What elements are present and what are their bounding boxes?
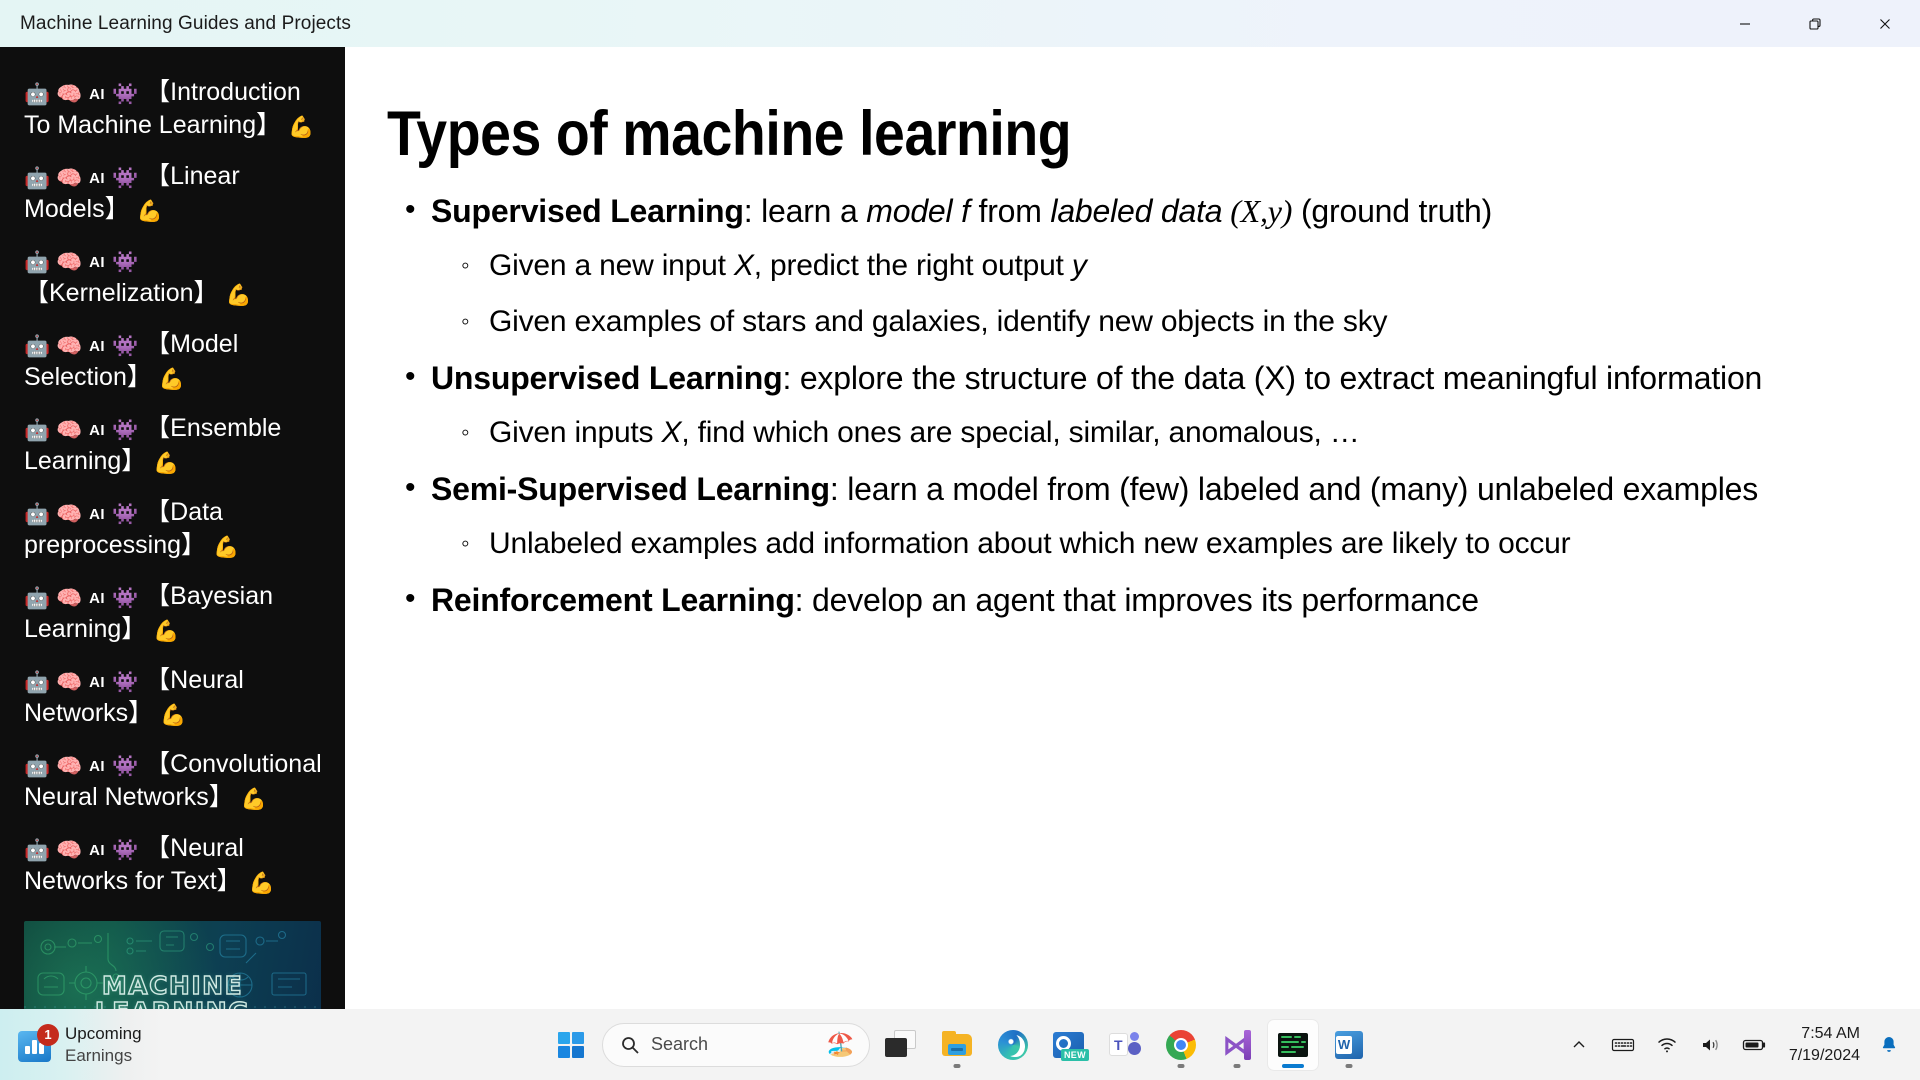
sidebar-item-label: 【Kernelization】: [24, 279, 219, 307]
teams-icon: T: [1108, 1028, 1142, 1062]
subbullet-unlabeled-examples: Unlabeled examples add information about…: [461, 524, 1878, 564]
ai-label: AI: [89, 674, 105, 691]
bullet-supervised-learning: Supervised Learning: learn a model f fro…: [401, 191, 1878, 232]
banner-caption-line2: LEARNING: [95, 997, 250, 1009]
task-view-button[interactable]: [876, 1020, 926, 1070]
subbullet-text-pre: Given examples of stars and galaxies, id…: [489, 305, 1387, 338]
subbullet-var-x: X: [662, 416, 682, 449]
robot-brain-icon: 🤖 🧠: [24, 335, 82, 358]
widget-title: Upcoming: [65, 1023, 142, 1044]
start-button[interactable]: [546, 1020, 596, 1070]
outlook-new-badge: NEW: [1061, 1049, 1089, 1061]
sidebar-item-introduction-to-machine-learning[interactable]: 🤖 🧠 AI 👾 【Introduction To Machine Learni…: [0, 77, 345, 143]
visual-studio-button[interactable]: ⋈: [1212, 1020, 1262, 1070]
slide-title: Types of machine learning: [387, 99, 1699, 169]
battery-button[interactable]: [1735, 1021, 1775, 1069]
bullet-text-tail: (ground truth): [1292, 193, 1492, 229]
robot-brain-icon: 🤖 🧠: [24, 167, 82, 190]
running-indicator: [954, 1064, 961, 1068]
search-input[interactable]: Search 🏖️: [602, 1023, 870, 1067]
folder-icon: [940, 1028, 974, 1062]
close-button[interactable]: [1850, 0, 1920, 47]
word-icon: W: [1332, 1028, 1366, 1062]
outlook-icon: NEW: [1052, 1028, 1086, 1062]
subbullet-given-inputs: Given inputs X, find which ones are spec…: [461, 413, 1878, 453]
search-placeholder: Search: [651, 1034, 708, 1055]
maximize-restore-button[interactable]: [1780, 0, 1850, 47]
alien-monster-icon: 👾: [112, 755, 138, 778]
sidebar-navigation[interactable]: 🤖 🧠 AI 👾 【Introduction To Machine Learni…: [0, 47, 345, 1009]
window-controls: [1710, 0, 1920, 47]
desktop-screen: Machine Learning Guides and Projects 🤖 🧠…: [0, 0, 1920, 1080]
robot-brain-icon: 🤖 🧠: [24, 503, 82, 526]
ai-label: AI: [89, 758, 105, 775]
subbullet-text-pre: Given inputs: [489, 416, 662, 449]
subbullet-var-y: y: [1072, 249, 1087, 282]
ai-label: AI: [89, 842, 105, 859]
clock[interactable]: 7:54 AM 7/19/2024: [1779, 1023, 1868, 1065]
chevron-up-icon: [1570, 1036, 1588, 1054]
search-icon: [620, 1035, 640, 1055]
clock-date: 7/19/2024: [1789, 1045, 1860, 1066]
google-chrome-button[interactable]: [1156, 1020, 1206, 1070]
chrome-icon: [1164, 1028, 1198, 1062]
bullet-text-mid: from: [970, 193, 1051, 229]
bullet-unsupervised-learning: Unsupervised Learning: explore the struc…: [401, 358, 1878, 399]
ai-label: AI: [89, 590, 105, 607]
subbullet-given-new-input: Given a new input X, predict the right o…: [461, 246, 1878, 286]
notification-bell-icon: [1878, 1034, 1900, 1056]
alien-monster-icon: 👾: [112, 671, 138, 694]
window-title: Machine Learning Guides and Projects: [0, 13, 351, 35]
subbullet-var-x: X: [734, 249, 754, 282]
slide-bullet-list: Supervised Learning: learn a model f fro…: [383, 191, 1878, 621]
show-hidden-icons-button[interactable]: [1559, 1021, 1599, 1069]
running-indicator: [1178, 1064, 1185, 1068]
beach-umbrella-icon: 🏖️: [826, 1031, 855, 1058]
banner-caption-line1: MACHINE: [102, 971, 243, 1000]
sidebar-item-neural-networks[interactable]: 🤖 🧠 AI 👾 【Neural Networks】 💪: [0, 665, 345, 731]
clock-time: 7:54 AM: [1789, 1023, 1860, 1044]
robot-brain-icon: 🤖 🧠: [24, 839, 82, 862]
microsoft-teams-button[interactable]: T: [1100, 1020, 1150, 1070]
sidebar-item-data-preprocessing[interactable]: 🤖 🧠 AI 👾 【Data preprocessing】 💪: [0, 497, 345, 563]
robot-brain-icon: 🤖 🧠: [24, 83, 82, 106]
subbullet-stars-and-galaxies: Given examples of stars and galaxies, id…: [461, 302, 1878, 342]
muscle-icon: 💪: [249, 872, 275, 895]
ai-label: AI: [89, 86, 105, 103]
bullet-bold-lead: Unsupervised Learning: [431, 360, 782, 396]
network-button[interactable]: [1647, 1021, 1687, 1069]
windows-logo-icon: [558, 1032, 584, 1058]
wifi-icon: [1656, 1036, 1678, 1054]
outlook-button[interactable]: NEW: [1044, 1020, 1094, 1070]
muscle-icon: 💪: [213, 536, 239, 559]
robot-brain-icon: 🤖 🧠: [24, 419, 82, 442]
sidebar-item-linear-models[interactable]: 🤖 🧠 AI 👾 【Linear Models】 💪: [0, 161, 345, 227]
ai-label: AI: [89, 170, 105, 187]
muscle-icon: 💪: [160, 704, 186, 727]
bullet-bold-lead: Semi-Supervised Learning: [431, 471, 830, 507]
muscle-icon: 💪: [288, 116, 314, 139]
edge-icon: [996, 1028, 1030, 1062]
active-app-indicator: [1282, 1064, 1304, 1068]
muscle-icon: 💪: [153, 452, 179, 475]
muscle-icon: 💪: [137, 200, 163, 223]
keyboard-icon: [1611, 1036, 1635, 1054]
robot-brain-icon: 🤖 🧠: [24, 587, 82, 610]
system-tray: 7:54 AM 7/19/2024: [1559, 1009, 1920, 1080]
sidebar-item-convolutional-neural-networks[interactable]: 🤖 🧠 AI 👾 【Convolutional Neural Networks】…: [0, 749, 345, 815]
bullet-italic-labeled-data: labeled data: [1050, 193, 1222, 229]
bullet-text: : develop an agent that improves its per…: [795, 582, 1479, 618]
bullet-text: : learn a model from (few) labeled and (…: [830, 471, 1758, 507]
alien-monster-icon: 👾: [112, 587, 138, 610]
subbullet-text-post: , predict the right output: [754, 249, 1072, 282]
running-indicator: [1234, 1064, 1241, 1068]
subbullet-text-pre: Given a new input: [489, 249, 734, 282]
alien-monster-icon: 👾: [112, 419, 138, 442]
widget-subtitle: Earnings: [65, 1045, 142, 1066]
visual-studio-icon: ⋈: [1220, 1028, 1254, 1062]
sidebar-item-ensemble-learning[interactable]: 🤖 🧠 AI 👾 【Ensemble Learning】 💪: [0, 413, 345, 479]
ai-label: AI: [89, 506, 105, 523]
robot-brain-icon: 🤖 🧠: [24, 671, 82, 694]
muscle-icon: 💪: [241, 788, 267, 811]
bar-chart-icon: 1: [18, 1027, 54, 1063]
alien-monster-icon: 👾: [112, 503, 138, 526]
microsoft-word-button[interactable]: W: [1324, 1020, 1374, 1070]
volume-button[interactable]: [1691, 1021, 1731, 1069]
taskbar: 1 Upcoming Earnings Search 🏖️: [0, 1009, 1920, 1080]
bullet-semi-supervised-learning: Semi-Supervised Learning: learn a model …: [401, 469, 1878, 510]
alien-monster-icon: 👾: [112, 167, 138, 190]
file-explorer-button[interactable]: [932, 1020, 982, 1070]
terminal-button[interactable]: [1268, 1020, 1318, 1070]
touch-keyboard-button[interactable]: [1603, 1021, 1643, 1069]
volume-icon: [1700, 1036, 1722, 1054]
bullet-text: : explore the structure of the data (X) …: [782, 360, 1762, 396]
alien-monster-icon: 👾: [112, 839, 138, 862]
widgets-button[interactable]: 1 Upcoming Earnings: [0, 1009, 162, 1080]
task-view-icon: [884, 1028, 918, 1062]
muscle-icon: 💪: [159, 368, 185, 391]
sidebar-item-bayesian-learning[interactable]: 🤖 🧠 AI 👾 【Bayesian Learning】 💪: [0, 581, 345, 647]
banner-caption: MACHINE LEARNING: [24, 973, 321, 1009]
battery-icon: [1742, 1037, 1768, 1053]
sidebar-item-kernelization[interactable]: 🤖 🧠 AI 👾 【Kernelization】 💪: [0, 245, 345, 311]
bullet-bold-lead: Reinforcement Learning: [431, 582, 795, 618]
minimize-button[interactable]: [1710, 0, 1780, 47]
terminal-icon: [1276, 1028, 1310, 1062]
sidebar-item-model-selection[interactable]: 🤖 🧠 AI 👾 【Model Selection】 💪: [0, 329, 345, 395]
muscle-icon: 💪: [226, 284, 252, 307]
alien-monster-icon: 👾: [112, 335, 138, 358]
slide-content-area: Types of machine learning Supervised Lea…: [345, 47, 1920, 1009]
machine-learning-banner-image[interactable]: MACHINE LEARNING: [24, 921, 321, 1009]
notifications-button[interactable]: [1872, 1034, 1906, 1056]
alien-monster-icon: 👾: [112, 251, 138, 274]
bullet-reinforcement-learning: Reinforcement Learning: develop an agent…: [401, 580, 1878, 621]
ai-label: AI: [89, 422, 105, 439]
subbullet-text-pre: Unlabeled examples add information about…: [489, 527, 1570, 560]
alien-monster-icon: 👾: [112, 83, 138, 106]
running-indicator: [1346, 1064, 1353, 1068]
robot-brain-icon: 🤖 🧠: [24, 755, 82, 778]
sidebar-item-neural-networks-for-text[interactable]: 🤖 🧠 AI 👾 【Neural Networks for Text】 💪: [0, 833, 345, 899]
bullet-italic-model: model f: [866, 193, 970, 229]
widget-badge-count: 1: [37, 1024, 59, 1046]
window-title-bar[interactable]: Machine Learning Guides and Projects: [0, 0, 1920, 47]
bullet-text: : learn a: [744, 193, 867, 229]
bullet-math-xy: (X,y): [1222, 193, 1292, 229]
microsoft-edge-button[interactable]: [988, 1020, 1038, 1070]
muscle-icon: 💪: [153, 620, 179, 643]
ai-label: AI: [89, 254, 105, 271]
ai-label: AI: [89, 338, 105, 355]
bullet-bold-lead: Supervised Learning: [431, 193, 744, 229]
robot-brain-icon: 🤖 🧠: [24, 251, 82, 274]
subbullet-text-post: , find which ones are special, similar, …: [681, 416, 1359, 449]
